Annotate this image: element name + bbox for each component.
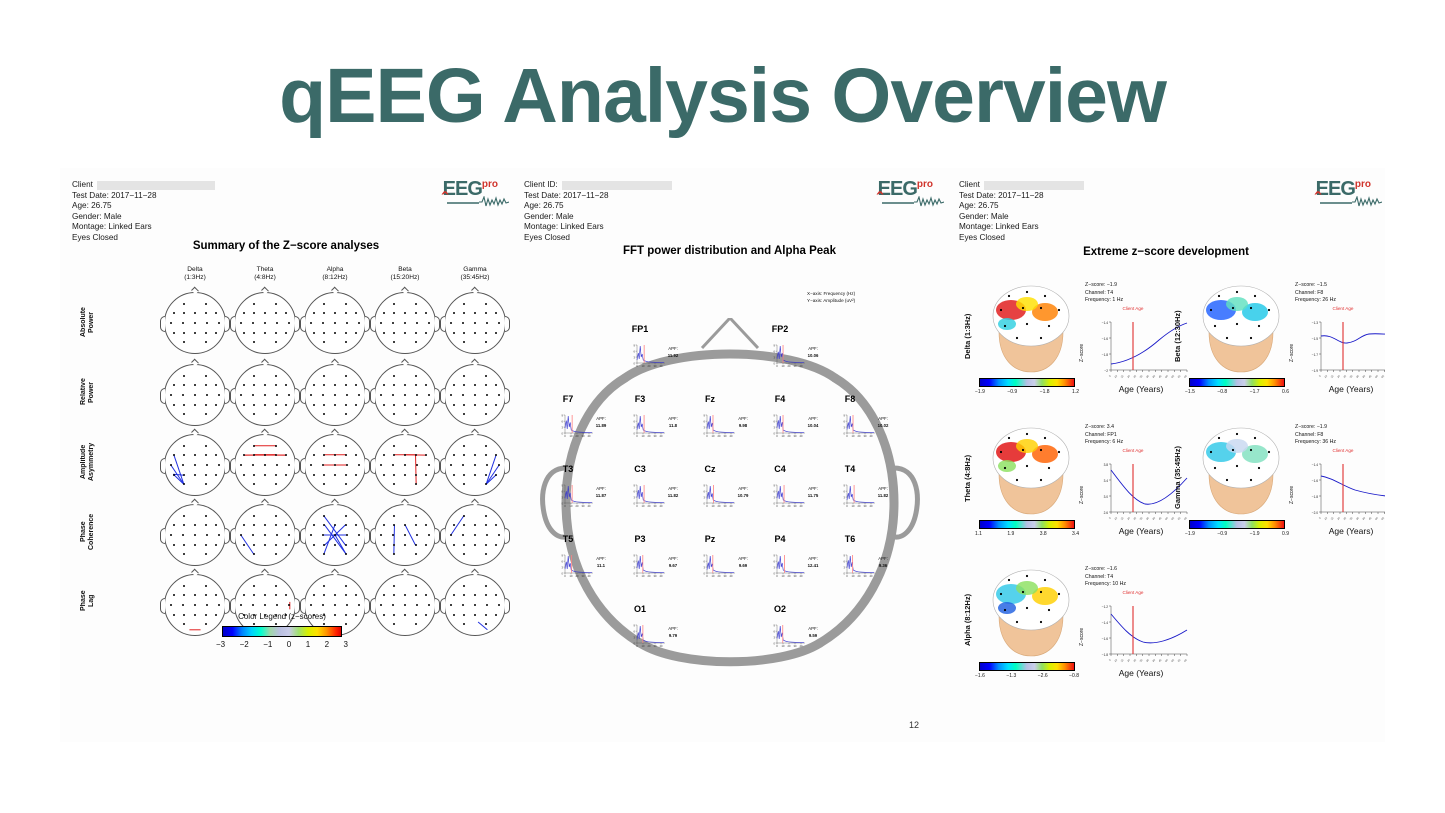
electrode-dot: [334, 312, 336, 314]
electrode-dot: [205, 454, 207, 456]
svg-text:9: 9: [562, 413, 564, 417]
electrode-label-c3: C3: [620, 464, 660, 474]
electrode-dot: [183, 303, 185, 305]
svg-text:20: 20: [858, 434, 861, 438]
electrode-dot: [1236, 433, 1238, 435]
channel-value: Channel: F8: [1295, 290, 1336, 298]
electrode-dot: [323, 445, 325, 447]
panel-extreme-zscore: Client Test Date: 2017−11−28 Age: 26.75 …: [947, 168, 1385, 742]
electrode-dot: [205, 375, 207, 377]
electrode-dot: [1048, 467, 1050, 469]
svg-text:10: 10: [642, 504, 645, 508]
electrode-dot: [194, 464, 196, 466]
z-axis-label: Z−score: [1079, 322, 1085, 362]
band-range: (8:12Hz): [304, 274, 366, 282]
electrode-dot: [485, 515, 487, 517]
svg-text:20: 20: [718, 434, 721, 438]
electrode-dot: [346, 322, 348, 324]
electrode-label-o1: O1: [620, 604, 660, 614]
electrode-dot: [495, 474, 497, 476]
age-axis-label: Age (Years): [1089, 526, 1193, 536]
svg-text:40: 40: [1151, 516, 1156, 521]
electrode-dot: [1048, 609, 1050, 611]
colorbar-tick: −1.9: [975, 389, 985, 395]
electrode-dot: [425, 332, 427, 334]
electrode-dot: [425, 544, 427, 546]
electrode-dot: [355, 332, 357, 334]
fft-plot-t4: 9630010203040APF:11.82: [840, 480, 894, 510]
topomap-phase-coherence-theta: [234, 504, 296, 566]
zscore-value: Z−score: 3.4: [1085, 424, 1123, 432]
electrode-dot: [474, 454, 476, 456]
electrode-dot: [275, 454, 277, 456]
head-3d-topomap-gamma: [1189, 422, 1293, 518]
svg-text:65: 65: [1183, 658, 1188, 663]
electrode-dot: [495, 614, 497, 616]
svg-text:3: 3: [704, 565, 706, 569]
svg-text:10: 10: [712, 504, 715, 508]
svg-text:30: 30: [724, 434, 727, 438]
svg-text:50: 50: [1164, 658, 1169, 663]
svg-text:20: 20: [858, 504, 861, 508]
electrode-dot: [310, 464, 312, 466]
svg-text:15: 15: [1330, 516, 1335, 521]
electrode-dot: [1026, 433, 1028, 435]
row-label-relative-power: RelativePower: [80, 364, 96, 420]
electrode-dot: [453, 594, 455, 596]
electrode-dot: [1236, 291, 1238, 293]
topomap-phase-coherence-beta: [374, 504, 436, 566]
electrode-dot: [276, 394, 278, 396]
topomap-amplitude-asymmetry-delta: [164, 434, 226, 496]
topomap-absolute-power-gamma: [444, 292, 506, 354]
ear-marker: [300, 316, 305, 332]
report-header-right: Client Test Date: 2017−11−28 Age: 26.75 …: [959, 180, 1084, 244]
svg-text:40: 40: [870, 574, 873, 578]
topomap-absolute-power-alpha: [304, 292, 366, 354]
electrode-dot: [425, 474, 427, 476]
colorbar-tick: 1.1: [975, 531, 982, 537]
svg-text:20: 20: [788, 434, 791, 438]
electrode-dot: [345, 375, 347, 377]
topomap-relative-power-delta: [164, 364, 226, 426]
colorbar-ticks: 1.11.93.83.4: [975, 531, 1079, 537]
electrode-dot: [345, 594, 347, 596]
svg-text:0: 0: [846, 504, 848, 508]
svg-text:3: 3: [774, 635, 776, 639]
svg-text:3: 3: [844, 565, 846, 569]
svg-text:35: 35: [1145, 516, 1150, 521]
electrode-dot: [474, 464, 476, 466]
electrode-dot: [264, 384, 266, 386]
electrode-dot: [1258, 325, 1260, 327]
svg-text:6: 6: [562, 489, 564, 493]
electrode-dot: [1048, 325, 1050, 327]
band-range: (35:45Hz): [444, 274, 506, 282]
svg-text:10: 10: [1113, 374, 1118, 379]
fft-plot-o1: 9630010203040APF:9.79: [630, 620, 684, 650]
svg-text:65: 65: [1183, 374, 1188, 379]
electrode-dot: [1022, 591, 1024, 593]
colorbar-alpha: [979, 662, 1075, 671]
colorbar-tick: 1.2: [1072, 389, 1079, 395]
electrode-dot: [425, 404, 427, 406]
apf-readout-f7: APF:11.89: [588, 415, 614, 429]
electrode-dot: [404, 454, 406, 456]
svg-text:0: 0: [704, 501, 706, 505]
electrode-dot: [275, 384, 277, 386]
client-id-redaction: [562, 181, 672, 190]
svg-text:3: 3: [562, 425, 564, 429]
topomap-blob: [1226, 297, 1248, 311]
electrode-label-f4: F4: [760, 394, 800, 404]
svg-text:30: 30: [1139, 658, 1144, 663]
electrode-dot: [206, 604, 208, 606]
electrode-dot: [243, 454, 245, 456]
electrode-dot: [485, 474, 487, 476]
zscore-annotation-gamma: Z−score: −1.9Channel: F8Frequency: 36 Hz: [1295, 424, 1336, 447]
svg-text:6: 6: [844, 419, 846, 423]
svg-text:40: 40: [730, 574, 733, 578]
electrode-dot: [345, 544, 347, 546]
topomap-absolute-power-delta: [164, 292, 226, 354]
electrode-dot: [1236, 465, 1238, 467]
electrode-dot: [205, 474, 207, 476]
svg-text:40: 40: [588, 574, 591, 578]
topomap-phase-lag-delta: [164, 574, 226, 636]
zscore-annotation-delta: Z−score: −1.9Channel: T4Frequency: 1 Hz: [1085, 282, 1123, 305]
svg-text:3: 3: [634, 495, 636, 499]
electrode-dot: [1022, 307, 1024, 309]
svg-text:40: 40: [1151, 374, 1156, 379]
electrode-dot: [1026, 465, 1028, 467]
electrode-dot: [404, 524, 406, 526]
age: Age: 26.75: [959, 201, 1084, 212]
svg-text:6: 6: [562, 419, 564, 423]
legend-tick: −1: [263, 640, 272, 649]
svg-text:−1.8: −1.8: [1312, 495, 1319, 499]
apf-value: 9.79: [660, 632, 686, 639]
svg-text:0: 0: [774, 431, 776, 435]
svg-text:30: 30: [1139, 516, 1144, 521]
svg-text:9: 9: [844, 483, 846, 487]
svg-text:15: 15: [1120, 374, 1125, 379]
band-range: (15:20Hz): [374, 274, 436, 282]
electrode-label-fz: Fz: [690, 394, 730, 404]
electrode-dot: [485, 404, 487, 406]
electrode-dot: [345, 524, 347, 526]
topomap-blob: [998, 602, 1016, 614]
svg-text:9: 9: [634, 413, 636, 417]
svg-text:10: 10: [712, 434, 715, 438]
svg-text:3: 3: [562, 495, 564, 499]
electrode-dot: [194, 454, 196, 456]
electrode-dot: [485, 594, 487, 596]
electrode-dot: [243, 404, 245, 406]
electrode-dot: [194, 534, 196, 536]
electrode-dot: [240, 322, 242, 324]
svg-text:3: 3: [562, 565, 564, 569]
gender: Gender: Male: [72, 212, 215, 223]
electrode-dot: [1232, 449, 1234, 451]
electrode-dot: [415, 312, 417, 314]
electrode-dot: [345, 445, 347, 447]
svg-text:6: 6: [634, 559, 636, 563]
svg-text:35: 35: [1355, 374, 1360, 379]
legend-tick: −3: [216, 640, 225, 649]
apf-readout-f8: APF:10.02: [870, 415, 896, 429]
electrode-dot: [276, 464, 278, 466]
svg-text:6: 6: [774, 559, 776, 563]
development-curve-alpha: −1.2−1.4−1.6−1.8510152025303540455055606…: [1089, 598, 1193, 670]
electrode-dot: [243, 312, 245, 314]
svg-text:20: 20: [788, 574, 791, 578]
svg-text:0: 0: [636, 644, 638, 648]
colorbar-tick: −1.5: [1185, 389, 1195, 395]
electrode-dot: [1250, 449, 1252, 451]
electrode-label-o2: O2: [760, 604, 800, 614]
electrode-dot: [1008, 579, 1010, 581]
channel-value: Channel: T4: [1085, 574, 1126, 582]
svg-text:6: 6: [774, 349, 776, 353]
electrode-dot: [383, 594, 385, 596]
svg-text:0: 0: [776, 644, 778, 648]
svg-text:0: 0: [634, 431, 636, 435]
svg-text:30: 30: [654, 434, 657, 438]
electrode-dot: [404, 322, 406, 324]
electrode-dot: [313, 454, 315, 456]
svg-text:9: 9: [774, 553, 776, 557]
fft-plot-pz: 9630010203040APF:9.69: [700, 550, 754, 580]
svg-text:−1.8: −1.8: [1102, 353, 1109, 357]
svg-text:9: 9: [774, 413, 776, 417]
montage: Montage: Linked Ears: [524, 222, 672, 233]
electrode-dot: [474, 534, 476, 536]
fft-plot-cz: 9630010203040APF:10.79: [700, 480, 754, 510]
electrode-dot: [415, 332, 417, 334]
topomap-blob: [1016, 581, 1038, 595]
fft-plot-f7: 9630010203040APF:11.89: [558, 410, 612, 440]
apf-readout-c4: APF:11.75: [800, 485, 826, 499]
client-age-marker-label: Client Age: [1103, 306, 1163, 311]
svg-text:−1.4: −1.4: [1102, 621, 1109, 625]
electrode-dot: [416, 604, 418, 606]
svg-text:35: 35: [1145, 658, 1150, 663]
apf-label: APF:: [808, 486, 818, 491]
electrode-dot: [1210, 451, 1212, 453]
electrode-dot: [463, 303, 465, 305]
apf-value: 10.04: [800, 422, 826, 429]
svg-text:0: 0: [774, 641, 776, 645]
age-axis-label: Age (Years): [1089, 384, 1193, 394]
test-date: Test Date: 2017−11−28: [72, 191, 215, 202]
apf-value: 9.36: [870, 562, 896, 569]
svg-text:20: 20: [648, 364, 651, 368]
age-axis-label: Age (Years): [1089, 668, 1193, 678]
svg-text:40: 40: [1151, 658, 1156, 663]
electrode-dot: [1026, 575, 1028, 577]
svg-text:10: 10: [1113, 658, 1118, 663]
svg-text:3: 3: [774, 495, 776, 499]
svg-text:6: 6: [634, 349, 636, 353]
electrode-dot: [206, 394, 208, 396]
svg-text:6: 6: [634, 629, 636, 633]
electrode-dot: [485, 375, 487, 377]
svg-text:20: 20: [576, 504, 579, 508]
head-3d-topomap-beta: [1189, 280, 1293, 376]
colorbar-tick: −1.8: [1040, 389, 1050, 395]
colorbar-tick: −1.7: [1250, 389, 1260, 395]
electrode-dot: [275, 515, 277, 517]
colorbar-beta: [1189, 378, 1285, 387]
svg-text:30: 30: [724, 504, 727, 508]
apf-label: APF:: [878, 556, 888, 561]
svg-text:3.4: 3.4: [1104, 479, 1109, 483]
electrode-dot: [334, 454, 336, 456]
band-name: Beta: [374, 266, 436, 274]
eegpro-logo-left: ˆ EEGpro: [443, 178, 498, 201]
development-curve-gamma: −1.4−1.6−1.8−2.0510152025303540455055606…: [1299, 456, 1385, 528]
electrode-dot: [173, 524, 175, 526]
ear-marker: [230, 316, 235, 332]
apf-readout-p4: APF:12.41: [800, 555, 826, 569]
electrode-dot: [1258, 467, 1260, 469]
electrode-dot: [323, 585, 325, 587]
age: Age: 26.75: [524, 201, 672, 212]
svg-text:0: 0: [776, 364, 778, 368]
colorbar-tick: 3.4: [1072, 531, 1079, 537]
svg-text:9: 9: [774, 343, 776, 347]
svg-text:5: 5: [1108, 658, 1112, 662]
band-range: (4:8Hz): [234, 274, 296, 282]
apf-readout-f3: APF:11.8: [660, 415, 686, 429]
electrode-label-fp1: FP1: [620, 324, 660, 334]
svg-text:10: 10: [642, 644, 645, 648]
electrode-dot: [393, 585, 395, 587]
ear-marker: [160, 316, 165, 332]
electrode-dot: [393, 515, 395, 517]
fft-plot-f8: 9630010203040APF:10.02: [840, 410, 894, 440]
electrode-dot: [485, 454, 487, 456]
electrode-dot: [355, 404, 357, 406]
colorbar-tick: −1.3: [1006, 673, 1016, 679]
svg-text:3: 3: [774, 355, 776, 359]
electrode-dot: [323, 303, 325, 305]
svg-text:20: 20: [648, 644, 651, 648]
svg-text:20: 20: [1126, 658, 1131, 663]
electrode-dot: [264, 604, 266, 606]
eegpro-logo-right: ˆ EEGpro: [1316, 178, 1371, 201]
ear-marker: [370, 316, 375, 332]
svg-text:40: 40: [660, 434, 663, 438]
svg-text:0: 0: [706, 574, 708, 578]
electrode-dot: [313, 524, 315, 526]
svg-text:0: 0: [564, 574, 566, 578]
svg-text:10: 10: [852, 574, 855, 578]
electrode-dot: [205, 585, 207, 587]
electrode-label-t3: T3: [548, 464, 588, 474]
electrode-dot: [310, 394, 312, 396]
frequency-value: Frequency: 26 Hz: [1295, 297, 1336, 305]
row-label-phase-lag: PhaseLag: [80, 576, 96, 626]
svg-text:3: 3: [704, 425, 706, 429]
electrode-dot: [173, 332, 175, 334]
electrode-dot: [486, 604, 488, 606]
svg-text:30: 30: [654, 644, 657, 648]
frequency-value: Frequency: 1 Hz: [1085, 297, 1123, 305]
electrode-dot: [253, 515, 255, 517]
svg-text:50: 50: [1374, 374, 1379, 379]
colorbar-tick: −2.6: [1038, 673, 1048, 679]
electrode-dot: [345, 332, 347, 334]
svg-text:10: 10: [852, 504, 855, 508]
client-label: Client: [72, 180, 93, 191]
client-label: Client: [959, 180, 980, 191]
svg-text:9: 9: [634, 483, 636, 487]
client-age-marker-label: Client Age: [1313, 448, 1373, 453]
electrode-dot: [453, 312, 455, 314]
electrode-dot: [345, 312, 347, 314]
electrode-dot: [264, 524, 266, 526]
electrode-dot: [1044, 295, 1046, 297]
electrode-dot: [415, 375, 417, 377]
topomap-blob: [1016, 439, 1038, 453]
channel-value: Channel: F8: [1295, 432, 1336, 440]
electrode-dot: [1026, 607, 1028, 609]
electrode-dot: [205, 312, 207, 314]
z-axis-label: Z−score: [1079, 606, 1085, 646]
apf-value: 9.98: [730, 422, 756, 429]
svg-text:9: 9: [774, 483, 776, 487]
svg-text:9: 9: [562, 553, 564, 557]
electrode-dot: [1218, 437, 1220, 439]
svg-text:10: 10: [782, 574, 785, 578]
ear-marker: [440, 316, 445, 332]
svg-text:3.8: 3.8: [1104, 463, 1109, 467]
apf-label: APF:: [878, 416, 888, 421]
electrode-dot: [1058, 451, 1060, 453]
apf-label: APF:: [738, 416, 748, 421]
svg-text:40: 40: [730, 434, 733, 438]
row-label-phase-coherence: PhaseCoherence: [80, 502, 96, 562]
svg-text:30: 30: [794, 434, 797, 438]
electrode-dot: [1226, 479, 1228, 481]
svg-text:50: 50: [1164, 516, 1169, 521]
electrode-dot: [240, 394, 242, 396]
svg-text:30: 30: [864, 434, 867, 438]
electrode-dot: [1044, 579, 1046, 581]
report-header-left: Client Test Date: 2017−11−28 Age: 26.75 …: [72, 180, 215, 244]
electrode-dot: [1026, 323, 1028, 325]
svg-text:30: 30: [654, 364, 657, 368]
electrode-dot: [474, 524, 476, 526]
electrode-dot: [383, 312, 385, 314]
svg-text:0: 0: [562, 571, 564, 575]
electrode-dot: [380, 604, 382, 606]
topomap-blob: [1226, 439, 1248, 453]
svg-text:30: 30: [794, 644, 797, 648]
svg-text:0: 0: [636, 434, 638, 438]
apf-label: APF:: [668, 416, 678, 421]
svg-text:35: 35: [1145, 374, 1150, 379]
electrode-dot: [1058, 309, 1060, 311]
band-header-delta: Delta (1:3Hz): [164, 266, 226, 282]
topomap-relative-power-theta: [234, 364, 296, 426]
electrode-dot: [313, 594, 315, 596]
development-trend-line: [1321, 476, 1385, 497]
topomap-amplitude-asymmetry-beta: [374, 434, 436, 496]
frequency-value: Frequency: 6 Hz: [1085, 439, 1123, 447]
